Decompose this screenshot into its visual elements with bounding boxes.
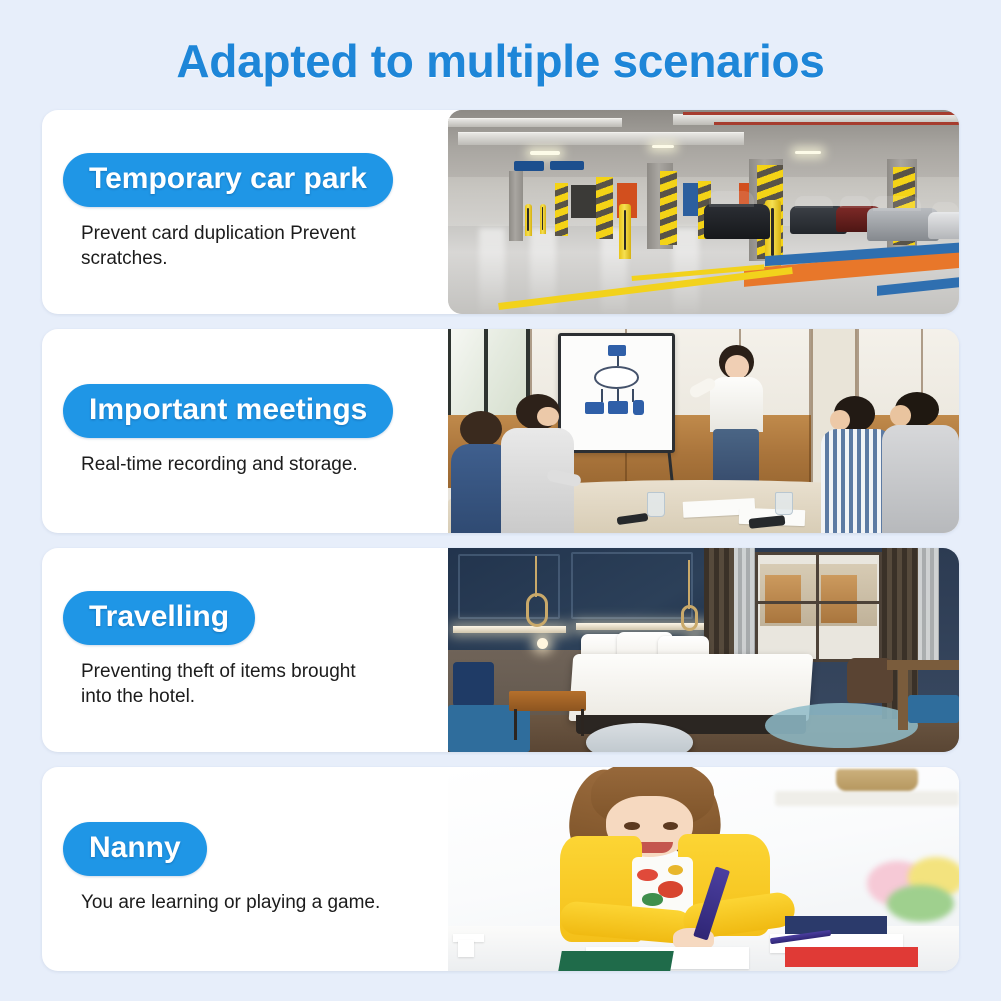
scenario-description-travelling: Preventing theft of items brought into t… [81, 660, 391, 709]
scenario-description-important-meetings: Real-time recording and storage. [81, 453, 391, 478]
scenario-pill-temporary-car-park[interactable]: Temporary car park [63, 153, 393, 207]
card-text-column: Important meetings Real-time recording a… [42, 329, 448, 533]
scenario-pill-important-meetings[interactable]: Important meetings [63, 384, 393, 438]
page-title: Adapted to multiple scenarios [0, 34, 1001, 88]
card-text-column: Travelling Preventing theft of items bro… [42, 548, 448, 752]
card-image-column [448, 329, 959, 533]
card-image-column [448, 767, 959, 971]
scenario-pill-travelling[interactable]: Travelling [63, 591, 255, 645]
scenario-card-temporary-car-park[interactable]: Temporary car park Prevent card duplicat… [42, 110, 959, 314]
scenario-card-list: Temporary car park Prevent card duplicat… [42, 110, 959, 986]
scenario-description-temporary-car-park: Prevent card duplication Prevent scratch… [81, 222, 391, 271]
scenario-description-nanny: You are learning or playing a game. [81, 891, 391, 916]
car-park-photo [448, 110, 959, 314]
card-text-column: Nanny You are learning or playing a game… [42, 767, 448, 971]
hotel-room-photo [448, 548, 959, 752]
scenario-card-nanny[interactable]: Nanny You are learning or playing a game… [42, 767, 959, 971]
child-studying-photo [448, 767, 959, 971]
scenario-pill-nanny[interactable]: Nanny [63, 822, 207, 876]
meeting-room-photo [448, 329, 959, 533]
card-text-column: Temporary car park Prevent card duplicat… [42, 110, 448, 314]
scenario-card-travelling[interactable]: Travelling Preventing theft of items bro… [42, 548, 959, 752]
card-image-column [448, 110, 959, 314]
scenario-card-important-meetings[interactable]: Important meetings Real-time recording a… [42, 329, 959, 533]
card-image-column [448, 548, 959, 752]
